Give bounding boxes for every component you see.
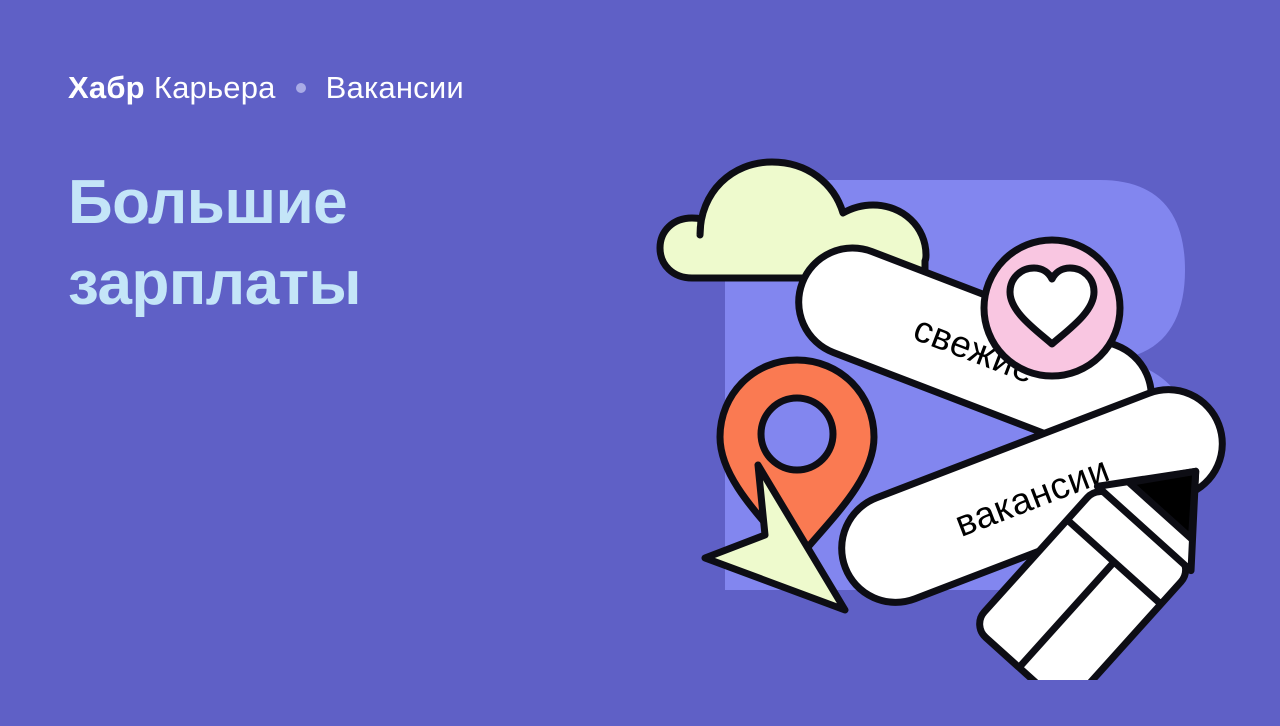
- heart-badge-icon: [984, 240, 1120, 376]
- page-title-line-2: зарплаты: [68, 244, 361, 325]
- breadcrumb: Хабр Карьера Вакансии: [68, 70, 464, 106]
- brand-name-regular: Карьера: [154, 70, 276, 106]
- page-title: Большие зарплаты: [68, 163, 361, 324]
- hero-banner: Хабр Карьера Вакансии Большие зарплаты с…: [0, 0, 1280, 726]
- section-label: Вакансии: [326, 70, 464, 106]
- hero-illustration: свежие вакансии: [640, 120, 1240, 680]
- bullet-dot-icon: [296, 83, 306, 93]
- brand-name-strong: Хабр: [68, 70, 145, 106]
- page-title-line-1: Большие: [68, 163, 361, 244]
